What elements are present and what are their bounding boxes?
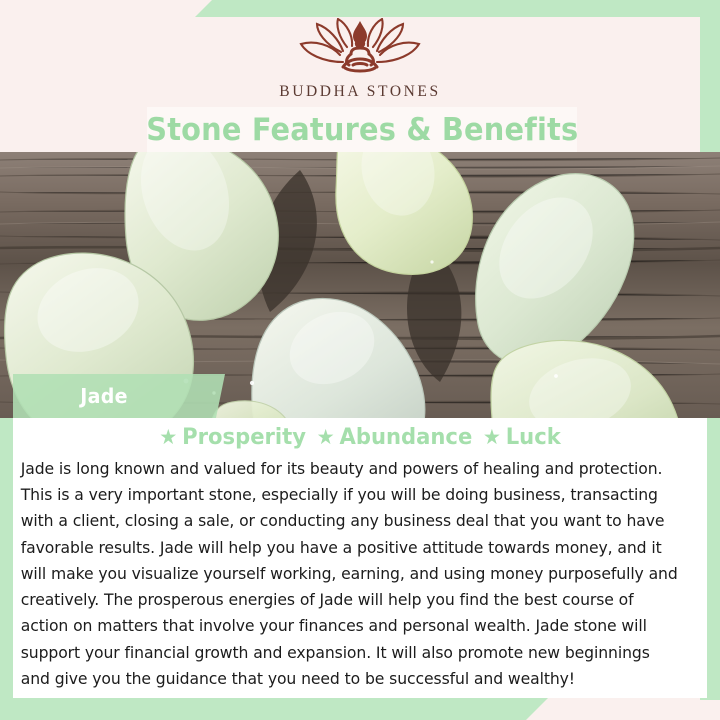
keyword-label: Luck: [506, 425, 561, 450]
star-icon: ★: [317, 427, 335, 448]
star-icon: ★: [483, 427, 501, 448]
photo-caption-band: Jade: [13, 374, 225, 418]
accent-band-left-edge: [0, 418, 13, 720]
keyword-abundance: ★ Abundance: [317, 425, 473, 450]
photo-caption: Jade: [80, 384, 128, 408]
keyword-prosperity: ★ Prosperity: [159, 425, 306, 450]
accent-band-bottom-left: [0, 698, 548, 720]
accent-band-top-right: [195, 0, 720, 17]
keyword-luck: ★ Luck: [483, 425, 561, 450]
body-paragraph: Jade is long known and valued for its be…: [13, 456, 683, 692]
keyword-label: Prosperity: [182, 425, 306, 450]
stone-photo: Jade: [0, 152, 720, 418]
lotus-meditation-icon: [285, 18, 435, 80]
keyword-row: ★ Prosperity ★ Abundance ★ Luck: [27, 418, 693, 456]
star-icon: ★: [159, 427, 177, 448]
brand-wordmark: BUDDHA STONES: [279, 83, 440, 101]
content-card: ★ Prosperity ★ Abundance ★ Luck Jade is …: [13, 418, 707, 698]
stone-features-infographic: BUDDHA STONES Stone Features & Benefits: [0, 0, 720, 720]
page-title-band: Stone Features & Benefits: [147, 107, 577, 152]
keyword-label: Abundance: [339, 425, 472, 450]
page-title: Stone Features & Benefits: [146, 112, 578, 148]
brand-logo: BUDDHA STONES: [0, 18, 720, 101]
